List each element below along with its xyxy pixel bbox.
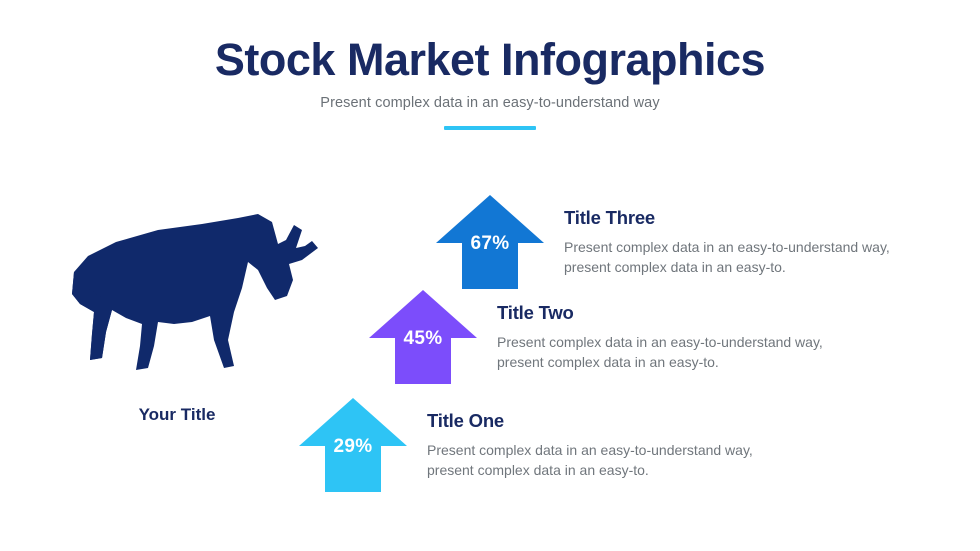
- item-title-three: Title Three: [564, 207, 914, 229]
- bull-illustration-block: Your Title: [62, 200, 352, 425]
- stat-row-two: 45% Title Two Present complex data in an…: [367, 288, 847, 386]
- percent-label-one: 29%: [297, 436, 409, 458]
- item-title-two: Title Two: [497, 302, 847, 324]
- header: Stock Market Infographics Present comple…: [0, 36, 980, 130]
- text-block-two: Title Two Present complex data in an eas…: [479, 288, 847, 373]
- stat-row-one: 29% Title One Present complex data in an…: [297, 396, 777, 494]
- arrow-one: 29%: [297, 396, 409, 494]
- percent-label-two: 45%: [367, 328, 479, 350]
- item-title-one: Title One: [427, 410, 777, 432]
- bull-caption-label: Your Title: [62, 405, 292, 425]
- text-block-three: Title Three Present complex data in an e…: [546, 193, 914, 278]
- item-description-one: Present complex data in an easy-to-under…: [427, 441, 777, 481]
- text-block-one: Title One Present complex data in an eas…: [409, 396, 777, 481]
- item-description-three: Present complex data in an easy-to-under…: [564, 238, 914, 278]
- arrow-two: 45%: [367, 288, 479, 386]
- page-title: Stock Market Infographics: [0, 36, 980, 83]
- percent-label-three: 67%: [434, 233, 546, 255]
- bull-silhouette-icon: [62, 200, 330, 390]
- header-divider-bar: [444, 126, 536, 130]
- page-subtitle: Present complex data in an easy-to-under…: [0, 95, 980, 111]
- item-description-two: Present complex data in an easy-to-under…: [497, 333, 847, 373]
- slide-canvas: Stock Market Infographics Present comple…: [0, 0, 980, 551]
- arrow-three: 67%: [434, 193, 546, 291]
- stat-row-three: 67% Title Three Present complex data in …: [434, 193, 914, 291]
